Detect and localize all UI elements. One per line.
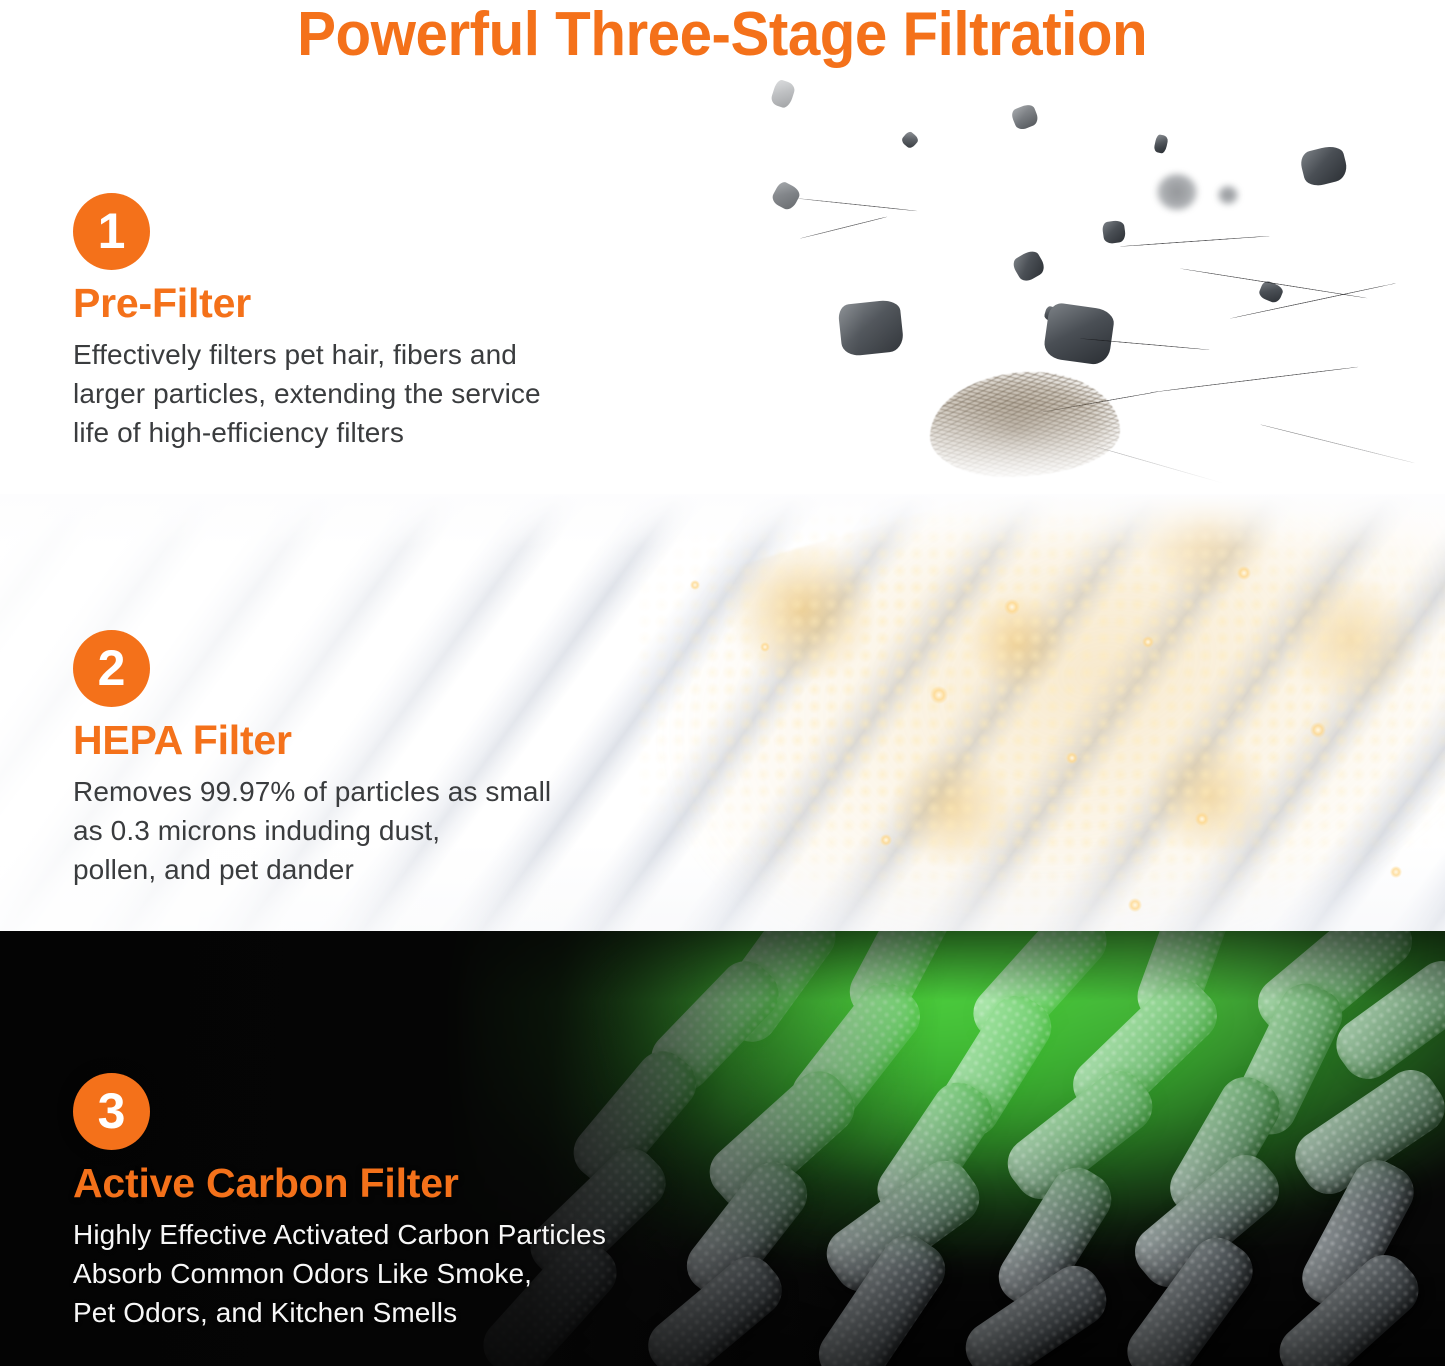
sparkle-point bbox=[1237, 566, 1251, 580]
step-body-pre-filter: Effectively filters pet hair, fibers and… bbox=[73, 335, 541, 452]
page-title: Powerful Three-Stage Filtration bbox=[297, 2, 1147, 68]
step-heading-hepa-filter: HEPA Filter bbox=[73, 717, 551, 763]
title-band: Powerful Three-Stage Filtration bbox=[0, 0, 1445, 78]
sparkle-point bbox=[1128, 898, 1142, 912]
step-number-badge-2: 2 bbox=[73, 630, 150, 707]
sparkle-point bbox=[1390, 866, 1402, 878]
sparkle-point bbox=[1004, 599, 1020, 615]
step-block-active-carbon-filter: 3 Active Carbon Filter Highly Effective … bbox=[73, 1073, 606, 1332]
sparkle-point bbox=[1310, 722, 1326, 738]
hepa-top-fade bbox=[0, 494, 1445, 548]
step-block-hepa-filter: 2 HEPA Filter Removes 99.97% of particle… bbox=[73, 630, 551, 889]
sparkle-point bbox=[1142, 636, 1154, 648]
step-heading-pre-filter: Pre-Filter bbox=[73, 280, 541, 326]
three-stage-filtration-infographic: Powerful Three-Stage Filtration 1 Pre-Fi… bbox=[0, 0, 1445, 1366]
sparkle-point bbox=[690, 580, 700, 590]
sparkle-point bbox=[760, 642, 770, 652]
sparkle-point bbox=[1066, 752, 1078, 764]
step-number-badge-1: 1 bbox=[73, 193, 150, 270]
step-number-badge-3: 3 bbox=[73, 1073, 150, 1150]
step-heading-active-carbon-filter: Active Carbon Filter bbox=[73, 1160, 606, 1206]
sparkle-point bbox=[880, 834, 892, 846]
step-block-pre-filter: 1 Pre-Filter Effectively filters pet hai… bbox=[73, 193, 541, 452]
step-body-active-carbon-filter: Highly Effective Activated Carbon Partic… bbox=[73, 1215, 606, 1332]
sparkle-point bbox=[1195, 812, 1209, 826]
sparkle-point bbox=[930, 686, 948, 704]
step-body-hepa-filter: Removes 99.97% of particles as small as … bbox=[73, 772, 551, 889]
